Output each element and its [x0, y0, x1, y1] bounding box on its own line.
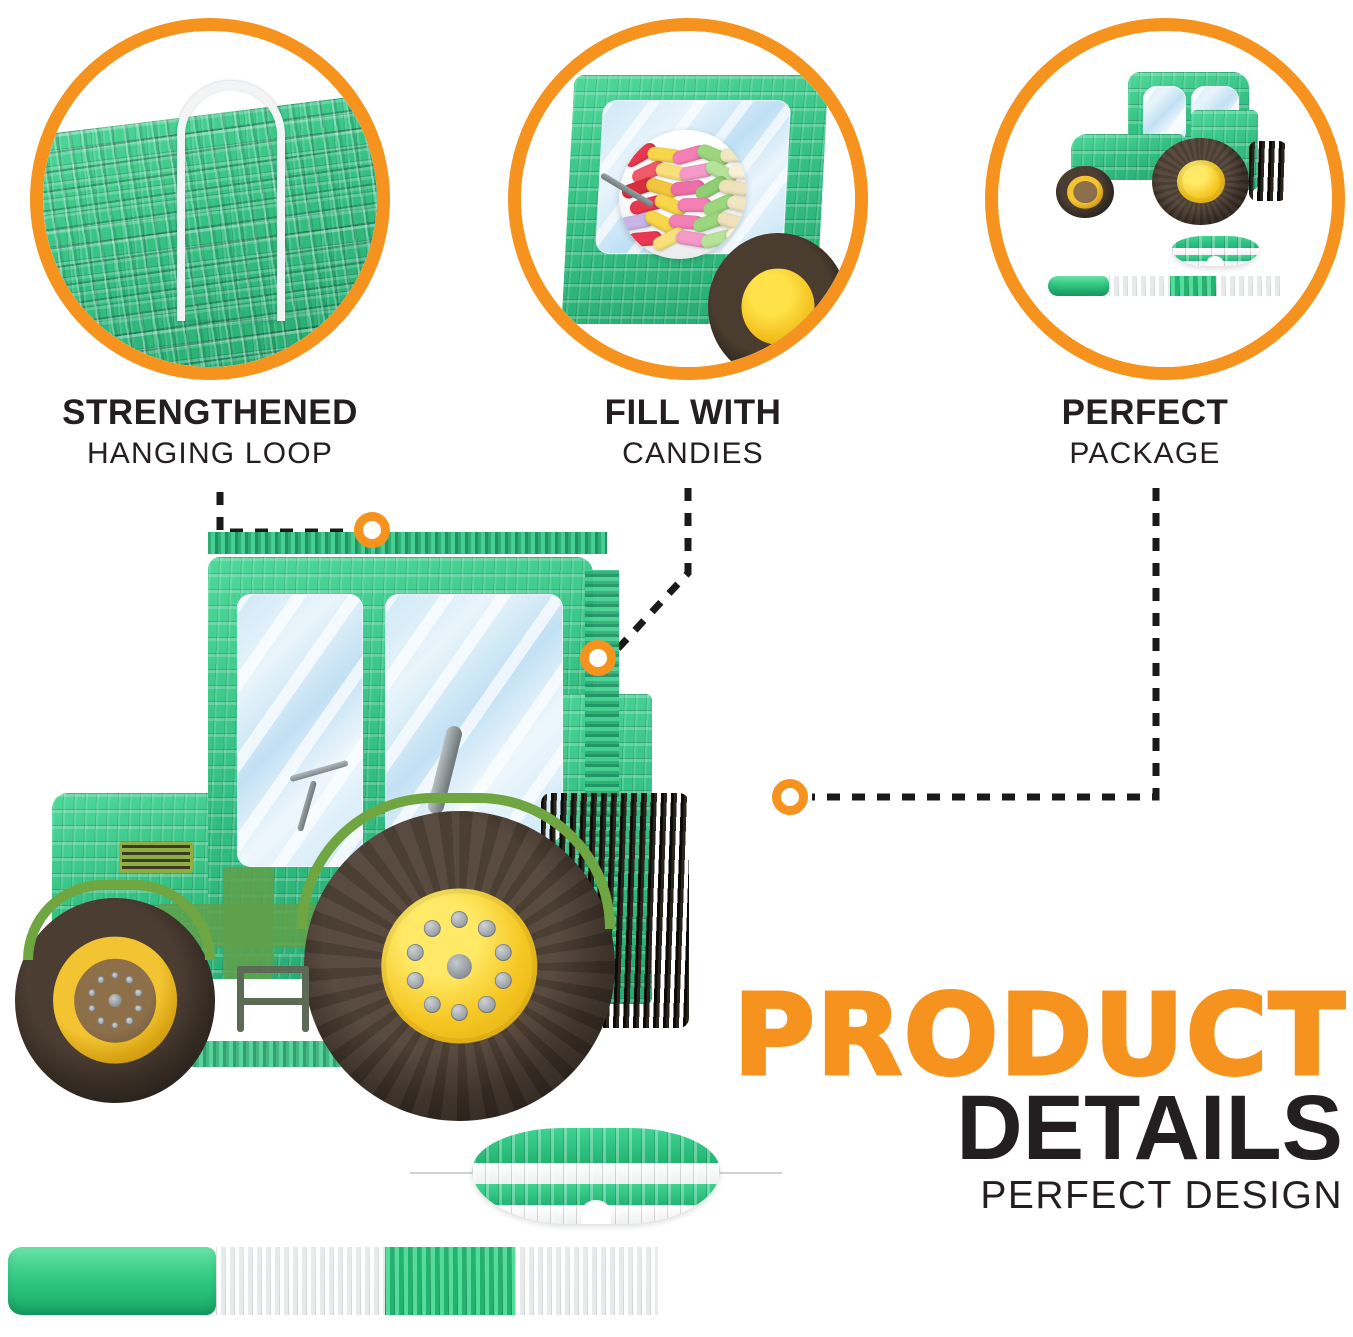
- bottom-crepe-fringe: [186, 1041, 349, 1067]
- rear-wheel: [708, 233, 848, 367]
- main-tractor-pinata: [8, 520, 748, 1140]
- marker-ring-candies: [580, 640, 616, 676]
- label-title: STRENGTHENED: [0, 395, 440, 430]
- stick-white-fringe-2: [515, 1247, 658, 1315]
- callout-hanging-loop: [30, 18, 390, 380]
- wheel-bolt: [495, 972, 512, 989]
- wheel-bolt: [88, 1004, 95, 1012]
- headline-subtitle: PERFECT DESIGN: [733, 1174, 1343, 1218]
- candy-piece: [720, 147, 749, 162]
- label-perfect-package: PERFECT PACKAGE: [915, 395, 1353, 473]
- wheel-bolt: [407, 972, 424, 989]
- callout-ring-3: [985, 18, 1345, 380]
- wheel-hub: [742, 268, 815, 345]
- striking-stick: [8, 1247, 658, 1315]
- label-title: PERFECT: [915, 395, 1353, 430]
- wheel-bolt: [407, 943, 424, 960]
- wheel-bolt: [97, 1017, 104, 1025]
- label-subtitle: PACKAGE: [915, 435, 1353, 473]
- wheel-bolt: [451, 1004, 468, 1021]
- mini-blindfold: [1172, 236, 1259, 266]
- label-fill-with-candies: FILL WITH CANDIES: [463, 395, 923, 473]
- callout-ring-1: [30, 18, 390, 380]
- wheel-bolt: [495, 943, 512, 960]
- stick-green-fringe: [385, 1247, 515, 1315]
- label-subtitle: CANDIES: [463, 435, 923, 473]
- wheel-bolt: [112, 972, 119, 980]
- marker-ring-hanging-loop: [354, 512, 390, 548]
- wheel-bolt: [97, 976, 104, 984]
- wheel-bolt: [88, 989, 95, 997]
- callout-fill-with-candies: [508, 18, 868, 380]
- hanging-loop-icon: [177, 81, 285, 321]
- blindfold-mask: [472, 1128, 720, 1224]
- connector-path-3: [812, 488, 1156, 797]
- front-hub-disc: [74, 959, 156, 1043]
- hood-grille: [119, 842, 193, 873]
- wheel-bolt: [126, 1017, 133, 1025]
- cab-step-ladder: [237, 966, 309, 1032]
- mini-tractor-pinata: [1051, 65, 1291, 240]
- callout-photo-hanging-loop: [43, 31, 377, 367]
- wheel-bolt: [135, 1004, 142, 1012]
- callout-photo-package: [998, 31, 1332, 367]
- headline-product: PRODUCT: [733, 985, 1343, 1088]
- blindfold-nose-notch: [581, 1200, 611, 1224]
- wheel-bolt: [478, 995, 495, 1012]
- callout-ring-2: [508, 18, 868, 380]
- stick-white-fringe-1: [216, 1247, 385, 1315]
- wheel-bolt: [126, 976, 133, 984]
- label-title: FILL WITH: [463, 395, 923, 430]
- wheel-bolt: [135, 989, 142, 997]
- front-hub-cap: [109, 994, 122, 1007]
- blindfold-strap-left: [410, 1172, 480, 1174]
- mini-striking-stick: [1048, 276, 1282, 296]
- wheel-bolt: [423, 995, 440, 1012]
- label-hanging-loop: STRENGTHENED HANGING LOOP: [0, 395, 440, 473]
- label-subtitle: HANGING LOOP: [0, 435, 440, 473]
- callout-labels: STRENGTHENED HANGING LOOP FILL WITH CAND…: [0, 395, 1353, 490]
- wheel-bolt: [112, 1022, 119, 1030]
- candy-piece: [727, 163, 749, 179]
- marker-ring-package: [772, 779, 808, 815]
- roof-crepe-fringe: [208, 532, 608, 554]
- callout-perfect-package: [985, 18, 1345, 380]
- blindfold-body: [472, 1128, 720, 1224]
- rear-hub-cap: [447, 954, 472, 979]
- callout-photo-candies: [521, 31, 855, 367]
- stick-handle: [8, 1247, 216, 1315]
- product-details-headline: PRODUCT DETAILS PERFECT DESIGN: [733, 985, 1343, 1218]
